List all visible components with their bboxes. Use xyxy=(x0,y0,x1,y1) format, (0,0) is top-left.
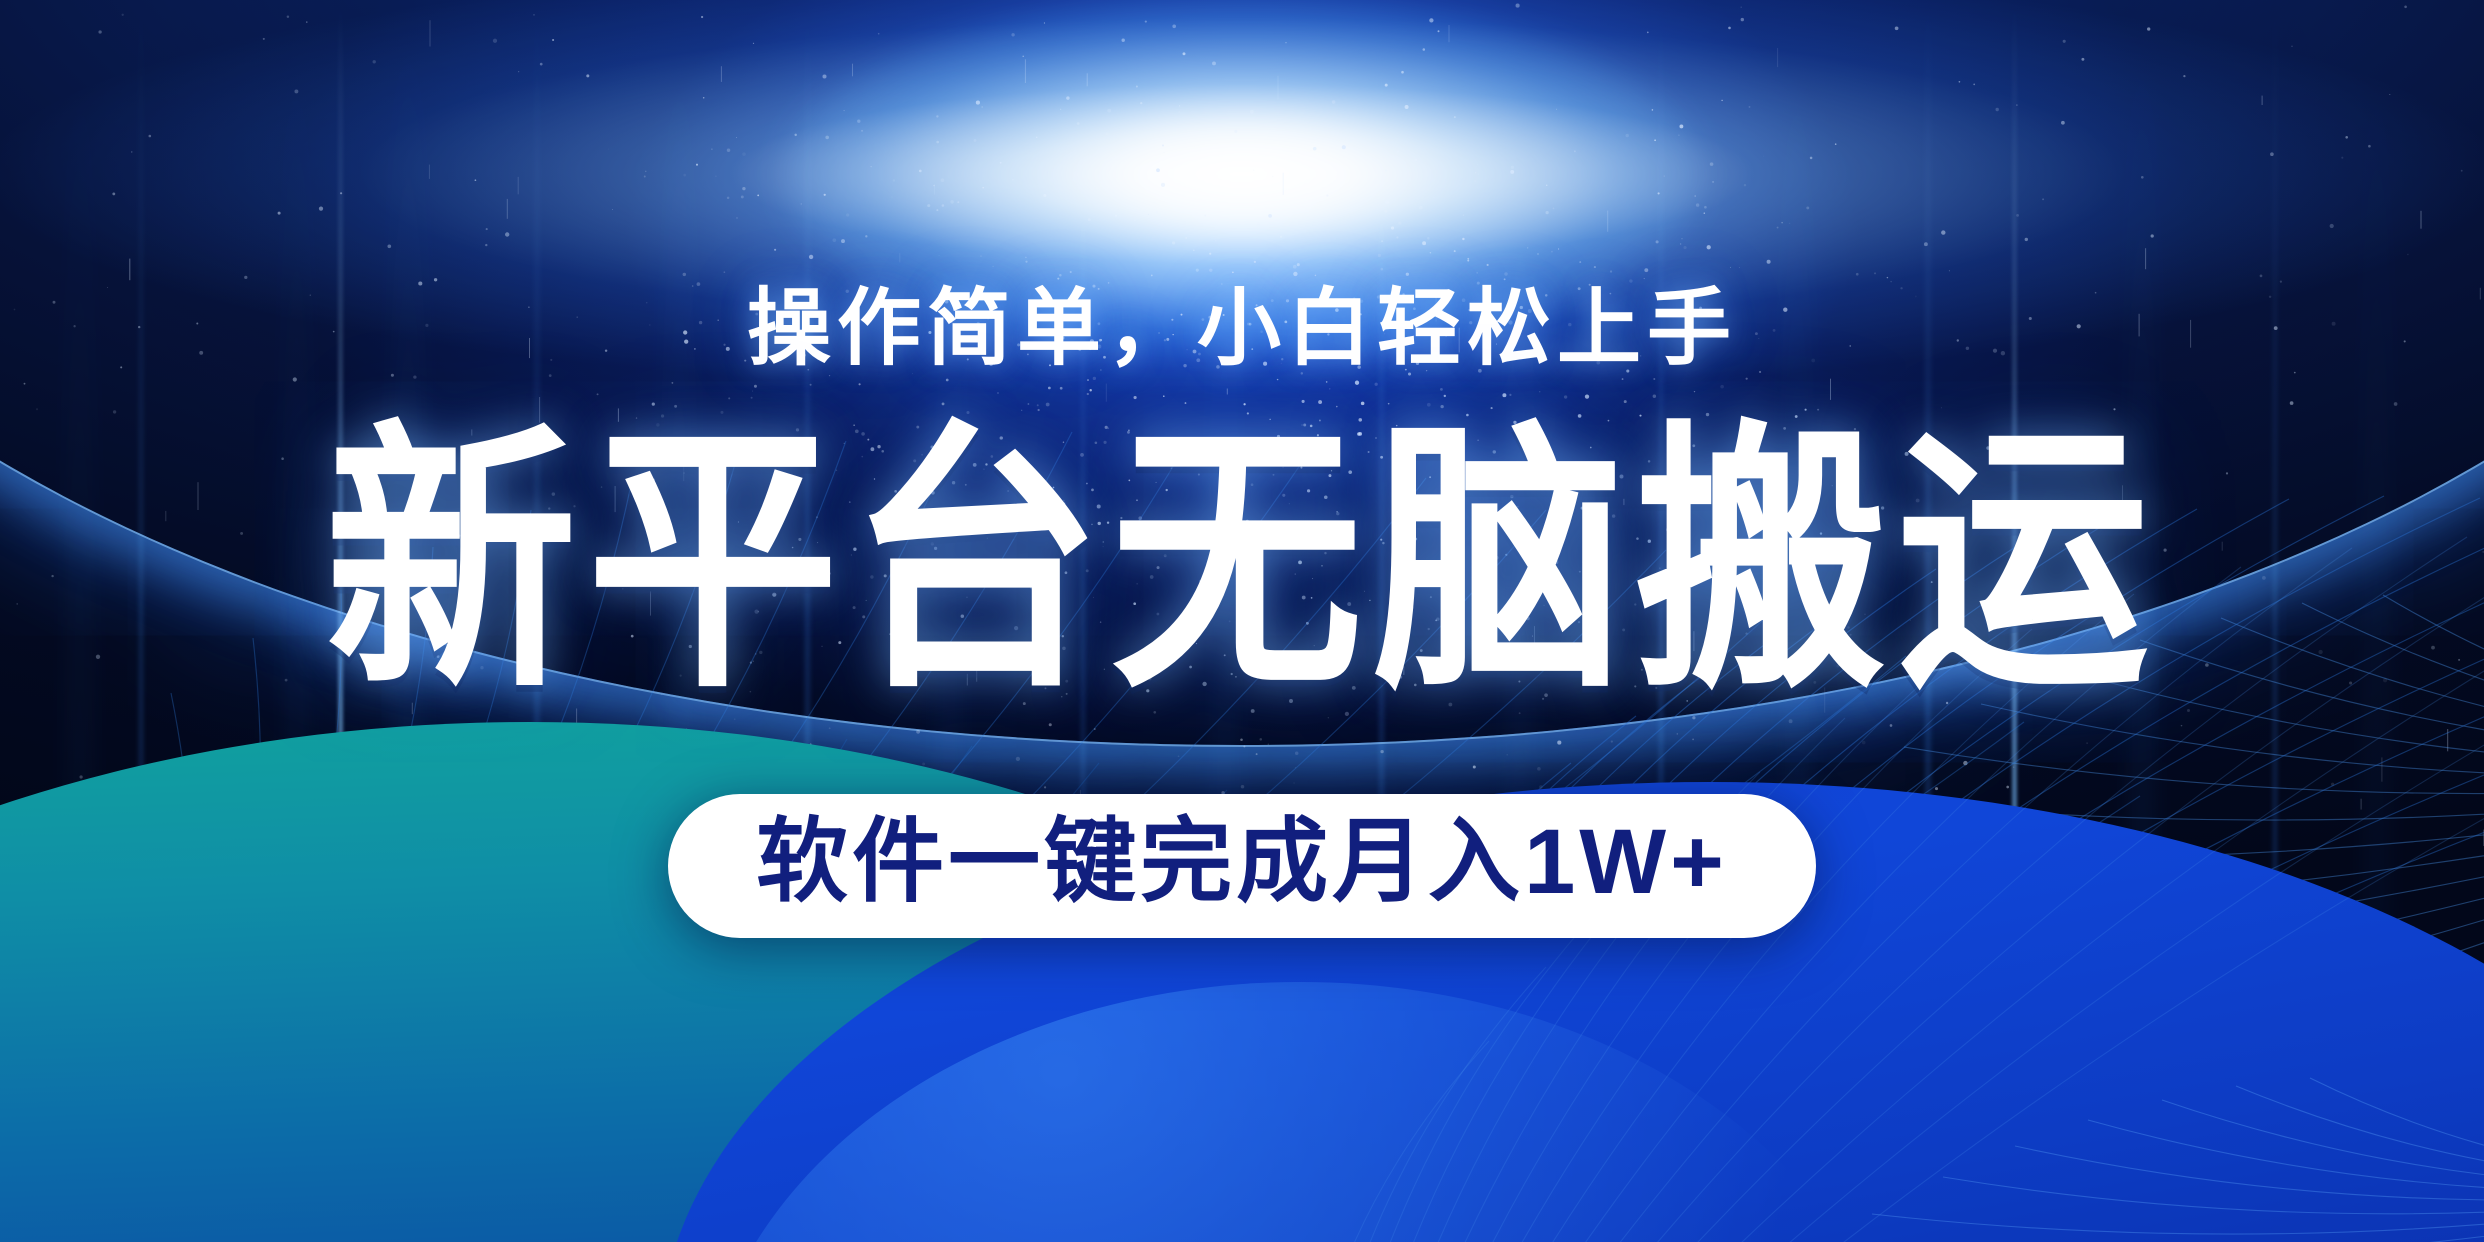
highlight-pill-text: 软件一键完成月入1W+ xyxy=(756,816,1728,908)
poster-content: 操作简单，小白轻松上手 新平台无脑搬运 软件一键完成月入1W+ xyxy=(0,0,2484,1242)
highlight-pill: 软件一键完成月入1W+ xyxy=(668,794,1816,938)
poster-title: 新平台无脑搬运 xyxy=(325,422,2159,704)
poster-subtitle: 操作简单，小白轻松上手 xyxy=(747,286,1737,370)
promo-poster: 操作简单，小白轻松上手 新平台无脑搬运 软件一键完成月入1W+ xyxy=(0,0,2484,1242)
